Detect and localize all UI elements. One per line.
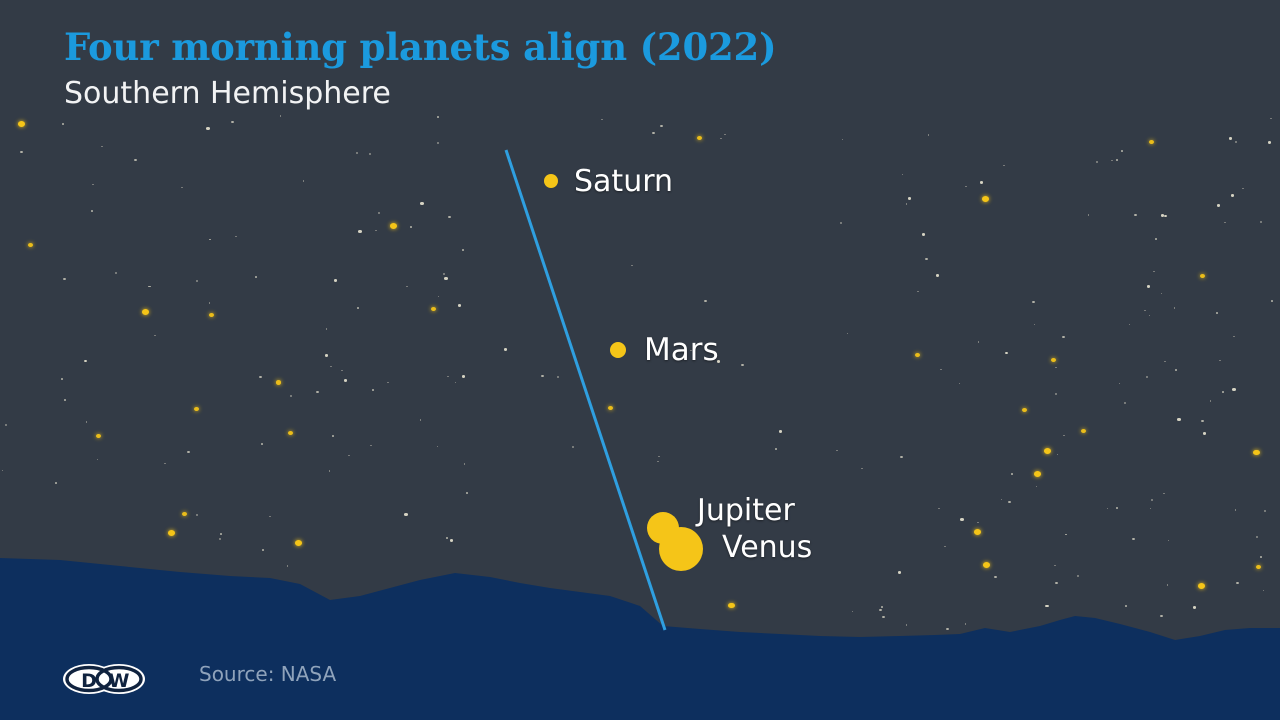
- planet-label-saturn: Saturn: [574, 164, 673, 199]
- page-title: Four morning planets align (2022): [64, 25, 776, 69]
- dw-logo-letter-d: D: [81, 670, 97, 692]
- page-subtitle: Southern Hemisphere: [64, 76, 391, 111]
- planet-label-venus: Venus: [722, 530, 812, 565]
- planet-label-mars: Mars: [644, 332, 719, 368]
- planet-label-jupiter: Jupiter: [697, 493, 795, 528]
- dw-logo-letter-w: W: [109, 670, 130, 692]
- planet-dot-saturn: [544, 174, 558, 188]
- ecliptic-line: [506, 150, 665, 630]
- planet-dot-venus: [659, 527, 703, 571]
- planet-dot-mars: [610, 342, 626, 358]
- source-caption: Source: NASA: [199, 662, 336, 686]
- infographic-canvas: Four morning planets align (2022) Southe…: [0, 0, 1280, 720]
- dw-logo[interactable]: D W: [62, 662, 146, 696]
